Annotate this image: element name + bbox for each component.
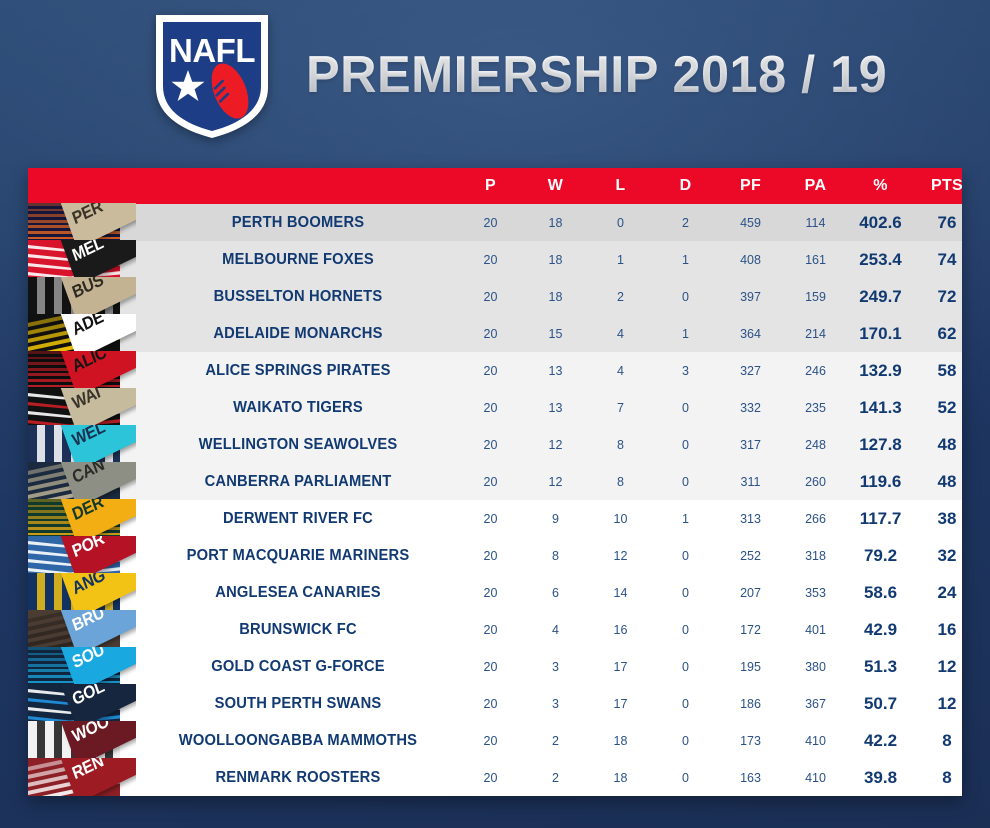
cell-played: 20 <box>458 438 523 452</box>
cell-drawn: 1 <box>653 512 718 526</box>
cell-points: 48 <box>913 472 962 492</box>
cell-points-against: 410 <box>783 771 848 785</box>
cell-percentage: 58.6 <box>848 583 913 603</box>
cell-won: 3 <box>523 660 588 674</box>
cell-points: 62 <box>913 324 962 344</box>
team-abbreviation-label: SOU <box>70 647 107 674</box>
cell-points: 32 <box>913 546 962 566</box>
cell-drawn: 1 <box>653 253 718 267</box>
cell-lost: 0 <box>588 216 653 230</box>
team-badge-icon: WOO <box>28 721 136 760</box>
table-row[interactable]: DERDERWENT RIVER FC209101313266117.738 <box>28 500 962 537</box>
team-name[interactable]: SOUTH PERTH SWANS <box>146 695 450 713</box>
team-badge-cell: PER <box>28 204 138 241</box>
cell-percentage: 253.4 <box>848 250 913 270</box>
cell-won: 12 <box>523 438 588 452</box>
team-badge-cell: BRU <box>28 611 138 648</box>
cell-points-for: 408 <box>718 253 783 267</box>
cell-points-for: 195 <box>718 660 783 674</box>
cell-won: 2 <box>523 771 588 785</box>
cell-drawn: 0 <box>653 623 718 637</box>
team-name[interactable]: RENMARK ROOSTERS <box>146 769 450 787</box>
cell-points-for: 332 <box>718 401 783 415</box>
cell-percentage: 402.6 <box>848 213 913 233</box>
cell-points: 24 <box>913 583 962 603</box>
cell-points-against: 260 <box>783 475 848 489</box>
column-header-pts[interactable]: PTS <box>913 177 962 195</box>
team-badge-cell: BUS <box>28 278 138 315</box>
cell-points-for: 459 <box>718 216 783 230</box>
team-name[interactable]: WAIKATO TIGERS <box>146 399 450 417</box>
cell-points-for: 317 <box>718 438 783 452</box>
team-name[interactable]: BUSSELTON HORNETS <box>146 288 450 306</box>
svg-text:NAFL: NAFL <box>169 32 255 69</box>
team-name[interactable]: MELBOURNE FOXES <box>146 251 450 269</box>
cell-points-for: 163 <box>718 771 783 785</box>
cell-drawn: 0 <box>653 586 718 600</box>
team-name[interactable]: WELLINGTON SEAWOLVES <box>146 436 450 454</box>
table-row[interactable]: CANCANBERRA PARLIAMENT201280311260119.64… <box>28 463 962 500</box>
cell-points: 8 <box>913 731 962 751</box>
cell-percentage: 42.2 <box>848 731 913 751</box>
cell-won: 18 <box>523 290 588 304</box>
cell-played: 20 <box>458 475 523 489</box>
team-name[interactable]: PORT MACQUARIE MARINERS <box>146 547 450 565</box>
team-name[interactable]: ANGLESEA CANARIES <box>146 584 450 602</box>
cell-lost: 4 <box>588 327 653 341</box>
cell-percentage: 51.3 <box>848 657 913 677</box>
cell-lost: 18 <box>588 734 653 748</box>
cell-points-for: 252 <box>718 549 783 563</box>
table-row[interactable]: RENRENMARK ROOSTERS20218016341039.88 <box>28 759 962 796</box>
cell-lost: 10 <box>588 512 653 526</box>
cell-won: 3 <box>523 697 588 711</box>
table-header-row: P W L D PF PA % PTS <box>28 168 962 204</box>
team-badge-icon: ANG <box>28 573 136 612</box>
cell-points: 72 <box>913 287 962 307</box>
team-badge-cell: WEL <box>28 426 138 463</box>
nafl-shield-logo: NAFL <box>150 9 274 142</box>
cell-points-for: 207 <box>718 586 783 600</box>
table-row[interactable]: BRUBRUNSWICK FC20416017240142.916 <box>28 611 962 648</box>
column-header-d[interactable]: D <box>653 177 718 195</box>
cell-lost: 12 <box>588 549 653 563</box>
cell-lost: 18 <box>588 771 653 785</box>
team-abbreviation-label: BUS <box>70 277 106 304</box>
cell-drawn: 1 <box>653 327 718 341</box>
cell-won: 6 <box>523 586 588 600</box>
team-badge-icon: DER <box>28 499 136 538</box>
cell-drawn: 3 <box>653 364 718 378</box>
cell-played: 20 <box>458 586 523 600</box>
team-name[interactable]: WOOLLOONGABBA MAMMOTHS <box>146 732 450 750</box>
team-badge-cell: ANG <box>28 574 138 611</box>
cell-points: 12 <box>913 657 962 677</box>
cell-percentage: 79.2 <box>848 546 913 566</box>
cell-points-against: 266 <box>783 512 848 526</box>
team-abbreviation-label: WEL <box>70 425 108 452</box>
team-badge-cell: CAN <box>28 463 138 500</box>
table-body: PERPERTH BOOMERS201802459114402.676MELME… <box>28 204 962 796</box>
table-row[interactable]: WAIWAIKATO TIGERS201370332235141.352 <box>28 389 962 426</box>
team-abbreviation-label: BRU <box>70 610 107 637</box>
cell-lost: 4 <box>588 364 653 378</box>
team-badge-cell: ADE <box>28 315 138 352</box>
cell-percentage: 170.1 <box>848 324 913 344</box>
team-abbreviation-label: WAI <box>70 388 103 415</box>
cell-won: 12 <box>523 475 588 489</box>
cell-lost: 17 <box>588 697 653 711</box>
cell-won: 2 <box>523 734 588 748</box>
cell-points-for: 172 <box>718 623 783 637</box>
cell-percentage: 127.8 <box>848 435 913 455</box>
cell-played: 20 <box>458 253 523 267</box>
cell-played: 20 <box>458 697 523 711</box>
page-header: NAFL PREMIERSHIP 2018 / 19 <box>0 0 990 150</box>
cell-drawn: 2 <box>653 216 718 230</box>
cell-points: 52 <box>913 398 962 418</box>
team-abbreviation-label: MEL <box>70 240 106 267</box>
cell-won: 13 <box>523 401 588 415</box>
team-badge-icon: POR <box>28 536 136 575</box>
team-badge-cell: SOU <box>28 648 138 685</box>
cell-drawn: 0 <box>653 771 718 785</box>
cell-points-against: 214 <box>783 327 848 341</box>
cell-won: 15 <box>523 327 588 341</box>
cell-lost: 16 <box>588 623 653 637</box>
column-header-w[interactable]: W <box>523 177 588 195</box>
cell-percentage: 117.7 <box>848 509 913 529</box>
team-name[interactable]: GOLD COAST G-FORCE <box>146 658 450 676</box>
cell-points-for: 311 <box>718 475 783 489</box>
cell-points: 38 <box>913 509 962 529</box>
cell-percentage: 42.9 <box>848 620 913 640</box>
team-abbreviation-label: ADE <box>70 314 106 341</box>
team-badge-icon: GOL <box>28 684 136 723</box>
cell-won: 18 <box>523 216 588 230</box>
team-name[interactable]: ALICE SPRINGS PIRATES <box>146 362 450 380</box>
team-abbreviation-label: REN <box>70 758 106 785</box>
cell-percentage: 132.9 <box>848 361 913 381</box>
cell-drawn: 0 <box>653 290 718 304</box>
team-badge-icon: SOU <box>28 647 136 686</box>
cell-percentage: 50.7 <box>848 694 913 714</box>
cell-won: 4 <box>523 623 588 637</box>
cell-lost: 8 <box>588 438 653 452</box>
cell-drawn: 0 <box>653 734 718 748</box>
cell-points-against: 401 <box>783 623 848 637</box>
team-abbreviation-label: WOO <box>70 721 112 748</box>
team-name[interactable]: DERWENT RIVER FC <box>146 510 450 528</box>
cell-percentage: 249.7 <box>848 287 913 307</box>
table-row[interactable]: ANGANGLESEA CANARIES20614020735358.624 <box>28 574 962 611</box>
column-header-pa[interactable]: PA <box>783 177 848 195</box>
cell-points-against: 410 <box>783 734 848 748</box>
cell-won: 18 <box>523 253 588 267</box>
cell-won: 13 <box>523 364 588 378</box>
cell-played: 20 <box>458 216 523 230</box>
cell-lost: 17 <box>588 660 653 674</box>
cell-lost: 2 <box>588 290 653 304</box>
cell-points-against: 380 <box>783 660 848 674</box>
team-name[interactable]: ADELAIDE MONARCHS <box>146 325 450 343</box>
team-badge-icon: ADE <box>28 314 136 353</box>
cell-played: 20 <box>458 512 523 526</box>
cell-percentage: 119.6 <box>848 472 913 492</box>
column-header-pct[interactable]: % <box>848 177 913 195</box>
cell-lost: 7 <box>588 401 653 415</box>
column-header-p[interactable]: P <box>458 177 523 195</box>
team-badge-cell: GOL <box>28 685 138 722</box>
cell-points-against: 248 <box>783 438 848 452</box>
cell-points-for: 186 <box>718 697 783 711</box>
team-abbreviation-label: ANG <box>70 573 108 600</box>
team-badge-icon: MEL <box>28 240 136 279</box>
team-abbreviation-label: PER <box>70 203 105 230</box>
cell-drawn: 0 <box>653 401 718 415</box>
team-abbreviation-label: GOL <box>70 684 107 711</box>
table-row[interactable]: GOLSOUTH PERTH SWANS20317018636750.712 <box>28 685 962 722</box>
team-abbreviation-label: DER <box>70 499 106 526</box>
cell-percentage: 39.8 <box>848 768 913 788</box>
cell-percentage: 141.3 <box>848 398 913 418</box>
column-header-pf[interactable]: PF <box>718 177 783 195</box>
cell-played: 20 <box>458 549 523 563</box>
team-badge-cell: MEL <box>28 241 138 278</box>
cell-points-for: 173 <box>718 734 783 748</box>
cell-points-for: 313 <box>718 512 783 526</box>
team-badge-icon: WAI <box>28 388 136 427</box>
table-row[interactable]: BUSBUSSELTON HORNETS201820397159249.772 <box>28 278 962 315</box>
cell-lost: 14 <box>588 586 653 600</box>
cell-played: 20 <box>458 327 523 341</box>
cell-points-against: 114 <box>783 216 848 230</box>
cell-points-for: 327 <box>718 364 783 378</box>
cell-played: 20 <box>458 290 523 304</box>
team-abbreviation-label: ALIC <box>70 351 109 378</box>
cell-points-against: 235 <box>783 401 848 415</box>
cell-played: 20 <box>458 734 523 748</box>
team-badge-cell: DER <box>28 500 138 537</box>
table-row[interactable]: MELMELBOURNE FOXES201811408161253.474 <box>28 241 962 278</box>
cell-drawn: 0 <box>653 697 718 711</box>
cell-lost: 8 <box>588 475 653 489</box>
cell-points-against: 246 <box>783 364 848 378</box>
team-badge-icon: WEL <box>28 425 136 464</box>
cell-points: 48 <box>913 435 962 455</box>
cell-drawn: 0 <box>653 475 718 489</box>
table-row[interactable]: ALICALICE SPRINGS PIRATES201343327246132… <box>28 352 962 389</box>
team-abbreviation-label: POR <box>70 536 107 563</box>
team-badge-cell: POR <box>28 537 138 574</box>
team-abbreviation-label: CAN <box>70 462 107 489</box>
table-row[interactable]: PERPERTH BOOMERS201802459114402.676 <box>28 204 962 241</box>
cell-points-against: 161 <box>783 253 848 267</box>
cell-drawn: 0 <box>653 438 718 452</box>
ladder-table-panel: P W L D PF PA % PTS PERPERTH BOOMERS2018… <box>28 168 962 796</box>
table-row[interactable]: ADEADELAIDE MONARCHS201541364214170.162 <box>28 315 962 352</box>
cell-points-against: 318 <box>783 549 848 563</box>
team-name[interactable]: CANBERRA PARLIAMENT <box>146 473 450 491</box>
team-badge-icon: BUS <box>28 277 136 316</box>
cell-points: 76 <box>913 213 962 233</box>
cell-drawn: 0 <box>653 660 718 674</box>
table-row[interactable]: WOOWOOLLOONGABBA MAMMOTHS20218017341042.… <box>28 722 962 759</box>
table-row[interactable]: SOUGOLD COAST G-FORCE20317019538051.312 <box>28 648 962 685</box>
column-header-l[interactable]: L <box>588 177 653 195</box>
cell-points-against: 367 <box>783 697 848 711</box>
cell-won: 8 <box>523 549 588 563</box>
cell-lost: 1 <box>588 253 653 267</box>
page-title: PREMIERSHIP 2018 / 19 <box>306 49 887 101</box>
cell-points: 8 <box>913 768 962 788</box>
cell-played: 20 <box>458 623 523 637</box>
cell-drawn: 0 <box>653 549 718 563</box>
team-badge-cell: WAI <box>28 389 138 426</box>
team-name[interactable]: PERTH BOOMERS <box>146 214 450 232</box>
team-badge-cell: REN <box>28 759 138 796</box>
cell-points-against: 353 <box>783 586 848 600</box>
cell-won: 9 <box>523 512 588 526</box>
cell-points: 16 <box>913 620 962 640</box>
cell-points-for: 397 <box>718 290 783 304</box>
team-badge-icon: BRU <box>28 610 136 649</box>
table-row[interactable]: PORPORT MACQUARIE MARINERS20812025231879… <box>28 537 962 574</box>
cell-points-against: 159 <box>783 290 848 304</box>
cell-played: 20 <box>458 660 523 674</box>
cell-points: 58 <box>913 361 962 381</box>
cell-played: 20 <box>458 364 523 378</box>
cell-points: 12 <box>913 694 962 714</box>
team-name[interactable]: BRUNSWICK FC <box>146 621 450 639</box>
team-badge-cell: WOO <box>28 722 138 759</box>
cell-played: 20 <box>458 771 523 785</box>
cell-points: 74 <box>913 250 962 270</box>
team-badge-icon: PER <box>28 203 136 242</box>
table-row[interactable]: WELWELLINGTON SEAWOLVES201280317248127.8… <box>28 426 962 463</box>
team-badge-icon: CAN <box>28 462 136 501</box>
team-badge-icon: ALIC <box>28 351 136 390</box>
cell-points-for: 364 <box>718 327 783 341</box>
team-badge-cell: ALIC <box>28 352 138 389</box>
team-badge-icon: REN <box>28 758 136 796</box>
cell-played: 20 <box>458 401 523 415</box>
